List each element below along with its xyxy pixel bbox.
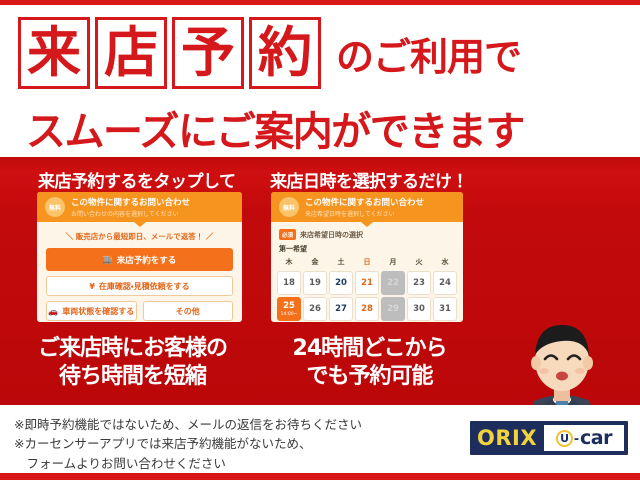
calendar-form-mockup: 無料 この物件に関するお問い合わせ 来店希望日時を選択してください 必須 来店希… <box>271 192 463 322</box>
disclaimer-text: ※即時予約機能ではないため、メールの返信をお待ちください ※カーセンサーアプリで… <box>14 415 362 473</box>
right-caption: 24時間どこから でも予約可能 <box>262 335 477 390</box>
car-icon: 🚗 <box>48 307 58 316</box>
red-body-section: 来店予約するをタップして 来店日時を選択するだけ！ 無料 この物件に関するお問い… <box>0 157 640 405</box>
yen-icon: ¥ <box>89 282 95 291</box>
date-cell-day: 20 <box>335 278 347 288</box>
boxed-kanji-3-char: 予 <box>181 26 235 80</box>
dow-thu: 木 <box>277 257 301 269</box>
boxed-kanji-1-char: 来 <box>27 26 81 80</box>
date-cell-day: 18 <box>283 278 295 288</box>
right-panel-title: 来店日時を選択するだけ！ <box>270 167 468 192</box>
date-cell[interactable]: 18 <box>277 271 301 295</box>
calendar-card-title: この物件に関するお問い合わせ <box>305 196 424 208</box>
date-cell-day: 26 <box>309 304 321 314</box>
calendar-card-subtitle: 来店希望日時を選択してください <box>305 209 424 218</box>
headline-tail-text: のご利用で <box>336 26 521 81</box>
inquiry-reply-note: ＼ 販売店から最短即日、メールで返答！ ／ <box>37 231 242 242</box>
free-badge-calendar: 無料 <box>279 197 299 217</box>
boxed-kanji-3: 予 <box>172 17 244 89</box>
dow-sat: 土 <box>329 257 353 269</box>
vehicle-condition-label: 車両状態を確認する <box>62 306 134 317</box>
orix-wordmark: ORIX <box>477 426 537 450</box>
inquiry-card-subtitle: お問い合わせの内容を選択してください <box>71 209 190 218</box>
first-preference-label: 第一希望 <box>279 244 463 254</box>
calendar-field-label-row: 必須 来店希望日時の選択 <box>279 229 463 240</box>
bottom-red-rule <box>0 473 640 480</box>
stock-quote-button[interactable]: ¥ 在庫確認・見積依頼をする <box>46 276 233 296</box>
inquiry-card-header-text: この物件に関するお問い合わせ お問い合わせの内容を選択してください <box>71 196 190 218</box>
date-cell-disabled: 22 <box>381 271 405 295</box>
inquiry-card-title: この物件に関するお問い合わせ <box>71 196 190 208</box>
other-label: その他 <box>176 306 200 317</box>
dow-mon: 月 <box>381 257 405 269</box>
dow-tue: 火 <box>407 257 431 269</box>
date-cell[interactable]: 27 <box>329 297 353 321</box>
date-cell-day: 21 <box>361 278 373 288</box>
dow-wed: 水 <box>433 257 457 269</box>
date-cell-selected[interactable]: 25 14:00~ <box>277 297 301 321</box>
date-cell[interactable]: 26 <box>303 297 327 321</box>
ucar-car-text: car <box>580 427 612 449</box>
date-cell-day: 29 <box>387 304 399 314</box>
date-cell[interactable]: 30 <box>407 297 431 321</box>
ucar-lockup: U - car <box>544 425 624 451</box>
boxed-kanji-2-char: 店 <box>104 26 158 80</box>
boxed-kanji-2: 店 <box>95 17 167 89</box>
date-cell[interactable]: 31 <box>433 297 457 321</box>
inquiry-card-header: 無料 この物件に関するお問い合わせ お問い合わせの内容を選択してください <box>37 192 242 222</box>
date-cell-day: 30 <box>413 304 425 314</box>
headline-row-2: スムーズにご案内ができます <box>26 99 524 157</box>
free-badge: 無料 <box>45 197 65 217</box>
date-cell-day: 19 <box>309 278 321 288</box>
secondary-button-row: 🚗 車両状態を確認する その他 <box>46 301 233 321</box>
stock-quote-label: 在庫確認・見積依頼をする <box>99 281 190 292</box>
date-cell-day: 23 <box>413 278 425 288</box>
left-caption: ご来店時にお客様の 待ち時間を短縮 <box>10 335 255 390</box>
date-cell[interactable]: 28 <box>355 297 379 321</box>
date-cell-day: 22 <box>387 278 399 288</box>
inquiry-form-mockup: 無料 この物件に関するお問い合わせ お問い合わせの内容を選択してください ＼ 販… <box>37 192 242 322</box>
calendar-field-label: 来店希望日時の選択 <box>300 230 363 240</box>
reserve-visit-button[interactable]: 🏬 来店予約をする <box>46 248 233 271</box>
date-cell-time: 14:00~ <box>281 312 298 317</box>
orix-ucar-logo: ORIX U - car <box>470 421 628 455</box>
boxed-kanji-4-char: 約 <box>258 26 312 80</box>
ucar-dash: - <box>574 430 579 447</box>
calendar-card-header: 無料 この物件に関するお問い合わせ 来店希望日時を選択してください <box>271 192 463 222</box>
boxed-kanji-4: 約 <box>249 17 321 89</box>
date-cell-day: 27 <box>335 304 347 314</box>
promo-banner: 来 店 予 約 のご利用で スムーズにご案内ができます 来店予約するをタップして… <box>0 0 640 480</box>
date-cell[interactable]: 20 <box>329 271 353 295</box>
ucar-u-icon: U <box>556 430 573 447</box>
date-cell-disabled: 29 <box>381 297 405 321</box>
date-cell[interactable]: 19 <box>303 271 327 295</box>
required-badge: 必須 <box>279 229 296 240</box>
calendar-grid: 木 金 土 日 月 火 水 18 19 20 21 22 23 24 25 14… <box>277 257 457 321</box>
dow-fri: 金 <box>303 257 327 269</box>
calendar-card-header-text: この物件に関するお問い合わせ 来店希望日時を選択してください <box>305 196 424 218</box>
date-cell-day: 24 <box>439 278 451 288</box>
store-icon: 🏬 <box>103 255 113 264</box>
headline-row-1: 来 店 予 約 のご利用で <box>18 17 521 89</box>
date-cell[interactable]: 21 <box>355 271 379 295</box>
reserve-visit-label: 来店予約をする <box>117 254 177 266</box>
left-panel-title: 来店予約するをタップして <box>38 167 236 192</box>
date-cell-day: 28 <box>361 304 373 314</box>
date-cell-day: 25 <box>283 301 295 311</box>
date-cell[interactable]: 23 <box>407 271 431 295</box>
date-cell[interactable]: 24 <box>433 271 457 295</box>
dow-sun: 日 <box>355 257 379 269</box>
other-button[interactable]: その他 <box>143 301 234 321</box>
headline-block: 来 店 予 約 のご利用で スムーズにご案内ができます <box>0 5 640 157</box>
date-cell-day: 31 <box>439 304 451 314</box>
vehicle-condition-button[interactable]: 🚗 車両状態を確認する <box>46 301 137 321</box>
boxed-kanji-1: 来 <box>18 17 90 89</box>
